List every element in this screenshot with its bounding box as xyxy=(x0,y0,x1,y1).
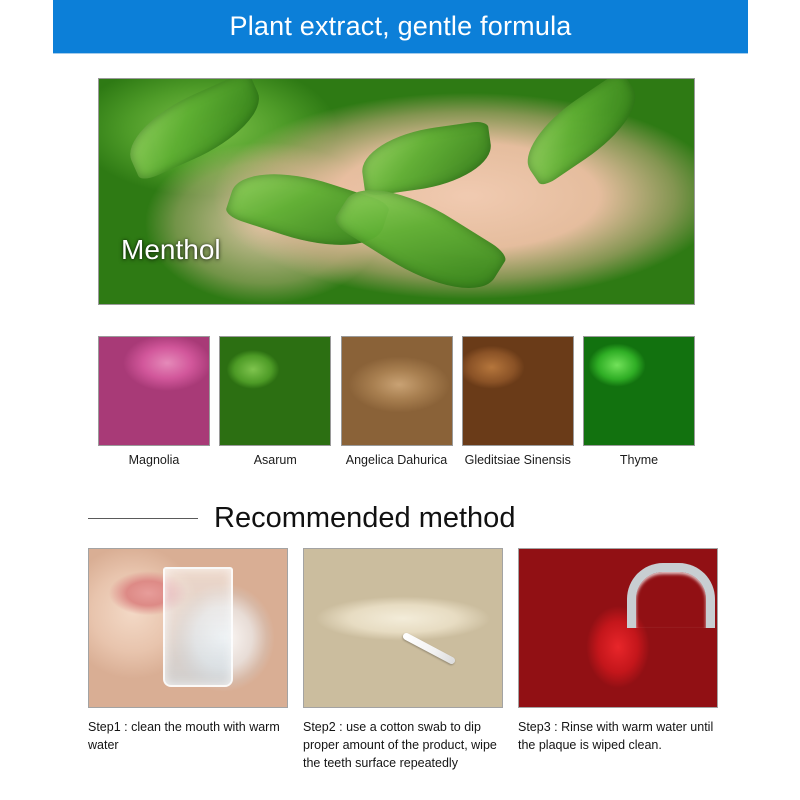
mint-leaves-photo xyxy=(99,79,694,304)
step-item-2: Step2 : use a cotton swab to dip proper … xyxy=(303,548,503,772)
step-caption: Step2 : use a cotton swab to dip proper … xyxy=(303,718,503,772)
ingredient-item-angelica-dahurica: Angelica Dahurica xyxy=(341,336,453,476)
banner-title: Plant extract, gentle formula xyxy=(230,13,572,40)
hero-label: Menthol xyxy=(121,234,221,266)
mint-leaf-decor xyxy=(117,78,271,182)
ingredient-list: Magnolia Asarum Angelica Dahurica Gledit… xyxy=(98,336,695,476)
faucet-decor xyxy=(627,563,715,628)
magnolia-flower-image xyxy=(98,336,210,446)
section-title: Recommended method xyxy=(214,504,515,533)
mint-leaf-decor xyxy=(512,78,651,187)
thyme-leaves-image xyxy=(583,336,695,446)
gleditsiae-bark-image xyxy=(462,336,574,446)
step-caption: Step3 : Rinse with warm water until the … xyxy=(518,718,718,754)
header-banner: Plant extract, gentle formula xyxy=(53,0,748,53)
recommended-method-heading: Recommended method xyxy=(88,495,708,541)
cotton-swab-decor xyxy=(402,632,456,665)
ingredient-label: Angelica Dahurica xyxy=(346,454,447,467)
ingredient-item-asarum: Asarum xyxy=(219,336,331,476)
method-steps: Step1 : clean the mouth with warm water … xyxy=(88,548,718,772)
step-caption: Step1 : clean the mouth with warm water xyxy=(88,718,288,754)
ingredient-item-thyme: Thyme xyxy=(583,336,695,476)
angelica-root-image xyxy=(341,336,453,446)
rinsing-mouth-faucet-image xyxy=(518,548,718,708)
teeth-cotton-swab-image xyxy=(303,548,503,708)
woman-drinking-water-image xyxy=(88,548,288,708)
water-glass-decor xyxy=(163,567,233,687)
ingredient-item-magnolia: Magnolia xyxy=(98,336,210,476)
step-item-1: Step1 : clean the mouth with warm water xyxy=(88,548,288,772)
asarum-leaves-image xyxy=(219,336,331,446)
ingredient-label: Gleditsiae Sinensis xyxy=(465,454,571,467)
step-item-3: Step3 : Rinse with warm water until the … xyxy=(518,548,718,772)
heading-rule-divider xyxy=(88,518,198,519)
mint-leaf-decor xyxy=(357,120,495,196)
hero-image-menthol: Menthol xyxy=(98,78,695,305)
ingredient-label: Magnolia xyxy=(129,454,180,467)
ingredient-label: Asarum xyxy=(254,454,297,467)
ingredient-item-gleditsiae-sinensis: Gleditsiae Sinensis xyxy=(462,336,574,476)
ingredient-label: Thyme xyxy=(620,454,658,467)
